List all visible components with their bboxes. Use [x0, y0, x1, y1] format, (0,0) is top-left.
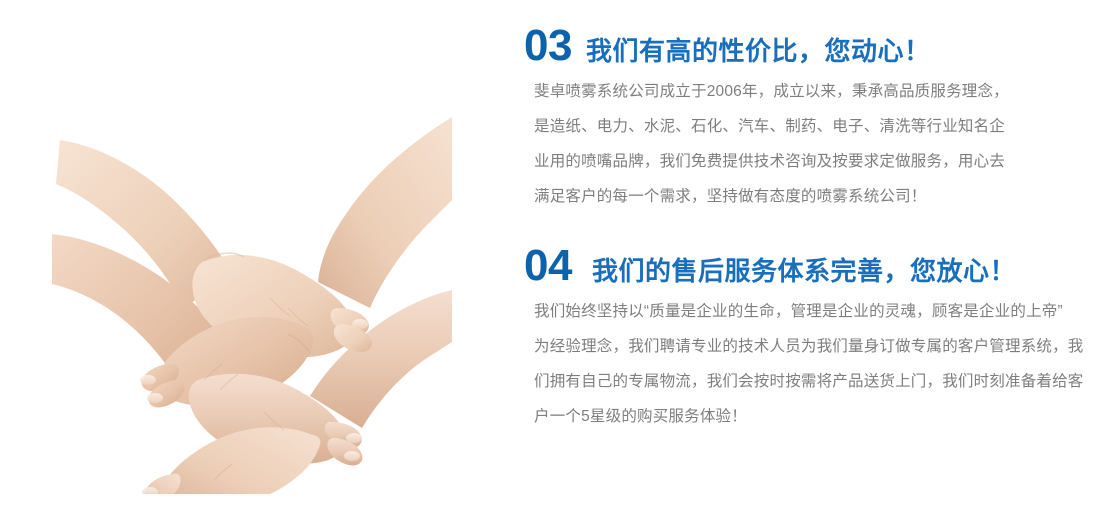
- advantage-paragraph-04: 我们始终坚持以“质量是企业的生命，管理是企业的灵魂，顾客是企业的上帝” 为经验理…: [524, 294, 1104, 434]
- paragraph-line: 业用的喷嘴品牌，我们免费提供技术咨询及按要求定做服务，用心去: [534, 144, 1104, 179]
- stacked-hands-image: [52, 112, 452, 494]
- advantage-title-04: 我们的售后服务体系完善，您放心！: [592, 258, 1016, 284]
- paragraph-line: 是造纸、电力、水泥、石化、汽车、制药、电子、清洗等行业知名企: [534, 109, 1104, 144]
- advantage-paragraph-03: 斐卓喷雾系统公司成立于2006年，成立以来，秉承高品质服务理念， 是造纸、电力、…: [524, 74, 1104, 214]
- advantage-number-04: 04: [524, 244, 572, 288]
- advantage-title-03: 我们有高的性价比，您动心！: [586, 38, 931, 64]
- promo-page: 03 我们有高的性价比，您动心！ 斐卓喷雾系统公司成立于2006年，成立以来，秉…: [0, 0, 1108, 513]
- paragraph-line: 斐卓喷雾系统公司成立于2006年，成立以来，秉承高品质服务理念，: [534, 74, 1104, 109]
- advantage-number-03: 03: [524, 24, 572, 68]
- paragraph-line: 们拥有自己的专属物流，我们会按时按需将产品送货上门，我们时刻准备着给客: [534, 364, 1104, 399]
- paragraph-line: 为经验理念，我们聘请专业的技术人员为我们量身订做专属的客户管理系统，我: [534, 329, 1104, 364]
- advantage-heading-03: 03 我们有高的性价比，您动心！: [524, 24, 1104, 68]
- paragraph-line: 户一个5星级的购买服务体验！: [534, 399, 1104, 434]
- advantages-content: 03 我们有高的性价比，您动心！ 斐卓喷雾系统公司成立于2006年，成立以来，秉…: [524, 24, 1104, 444]
- advantage-block-03: 03 我们有高的性价比，您动心！ 斐卓喷雾系统公司成立于2006年，成立以来，秉…: [524, 24, 1104, 214]
- paragraph-line: 我们始终坚持以“质量是企业的生命，管理是企业的灵魂，顾客是企业的上帝”: [534, 294, 1104, 329]
- paragraph-line: 满足客户的每一个需求，坚持做有态度的喷雾系统公司！: [534, 179, 1104, 214]
- advantage-block-04: 04 我们的售后服务体系完善，您放心！ 我们始终坚持以“质量是企业的生命，管理是…: [524, 244, 1104, 434]
- advantage-heading-04: 04 我们的售后服务体系完善，您放心！: [524, 244, 1104, 288]
